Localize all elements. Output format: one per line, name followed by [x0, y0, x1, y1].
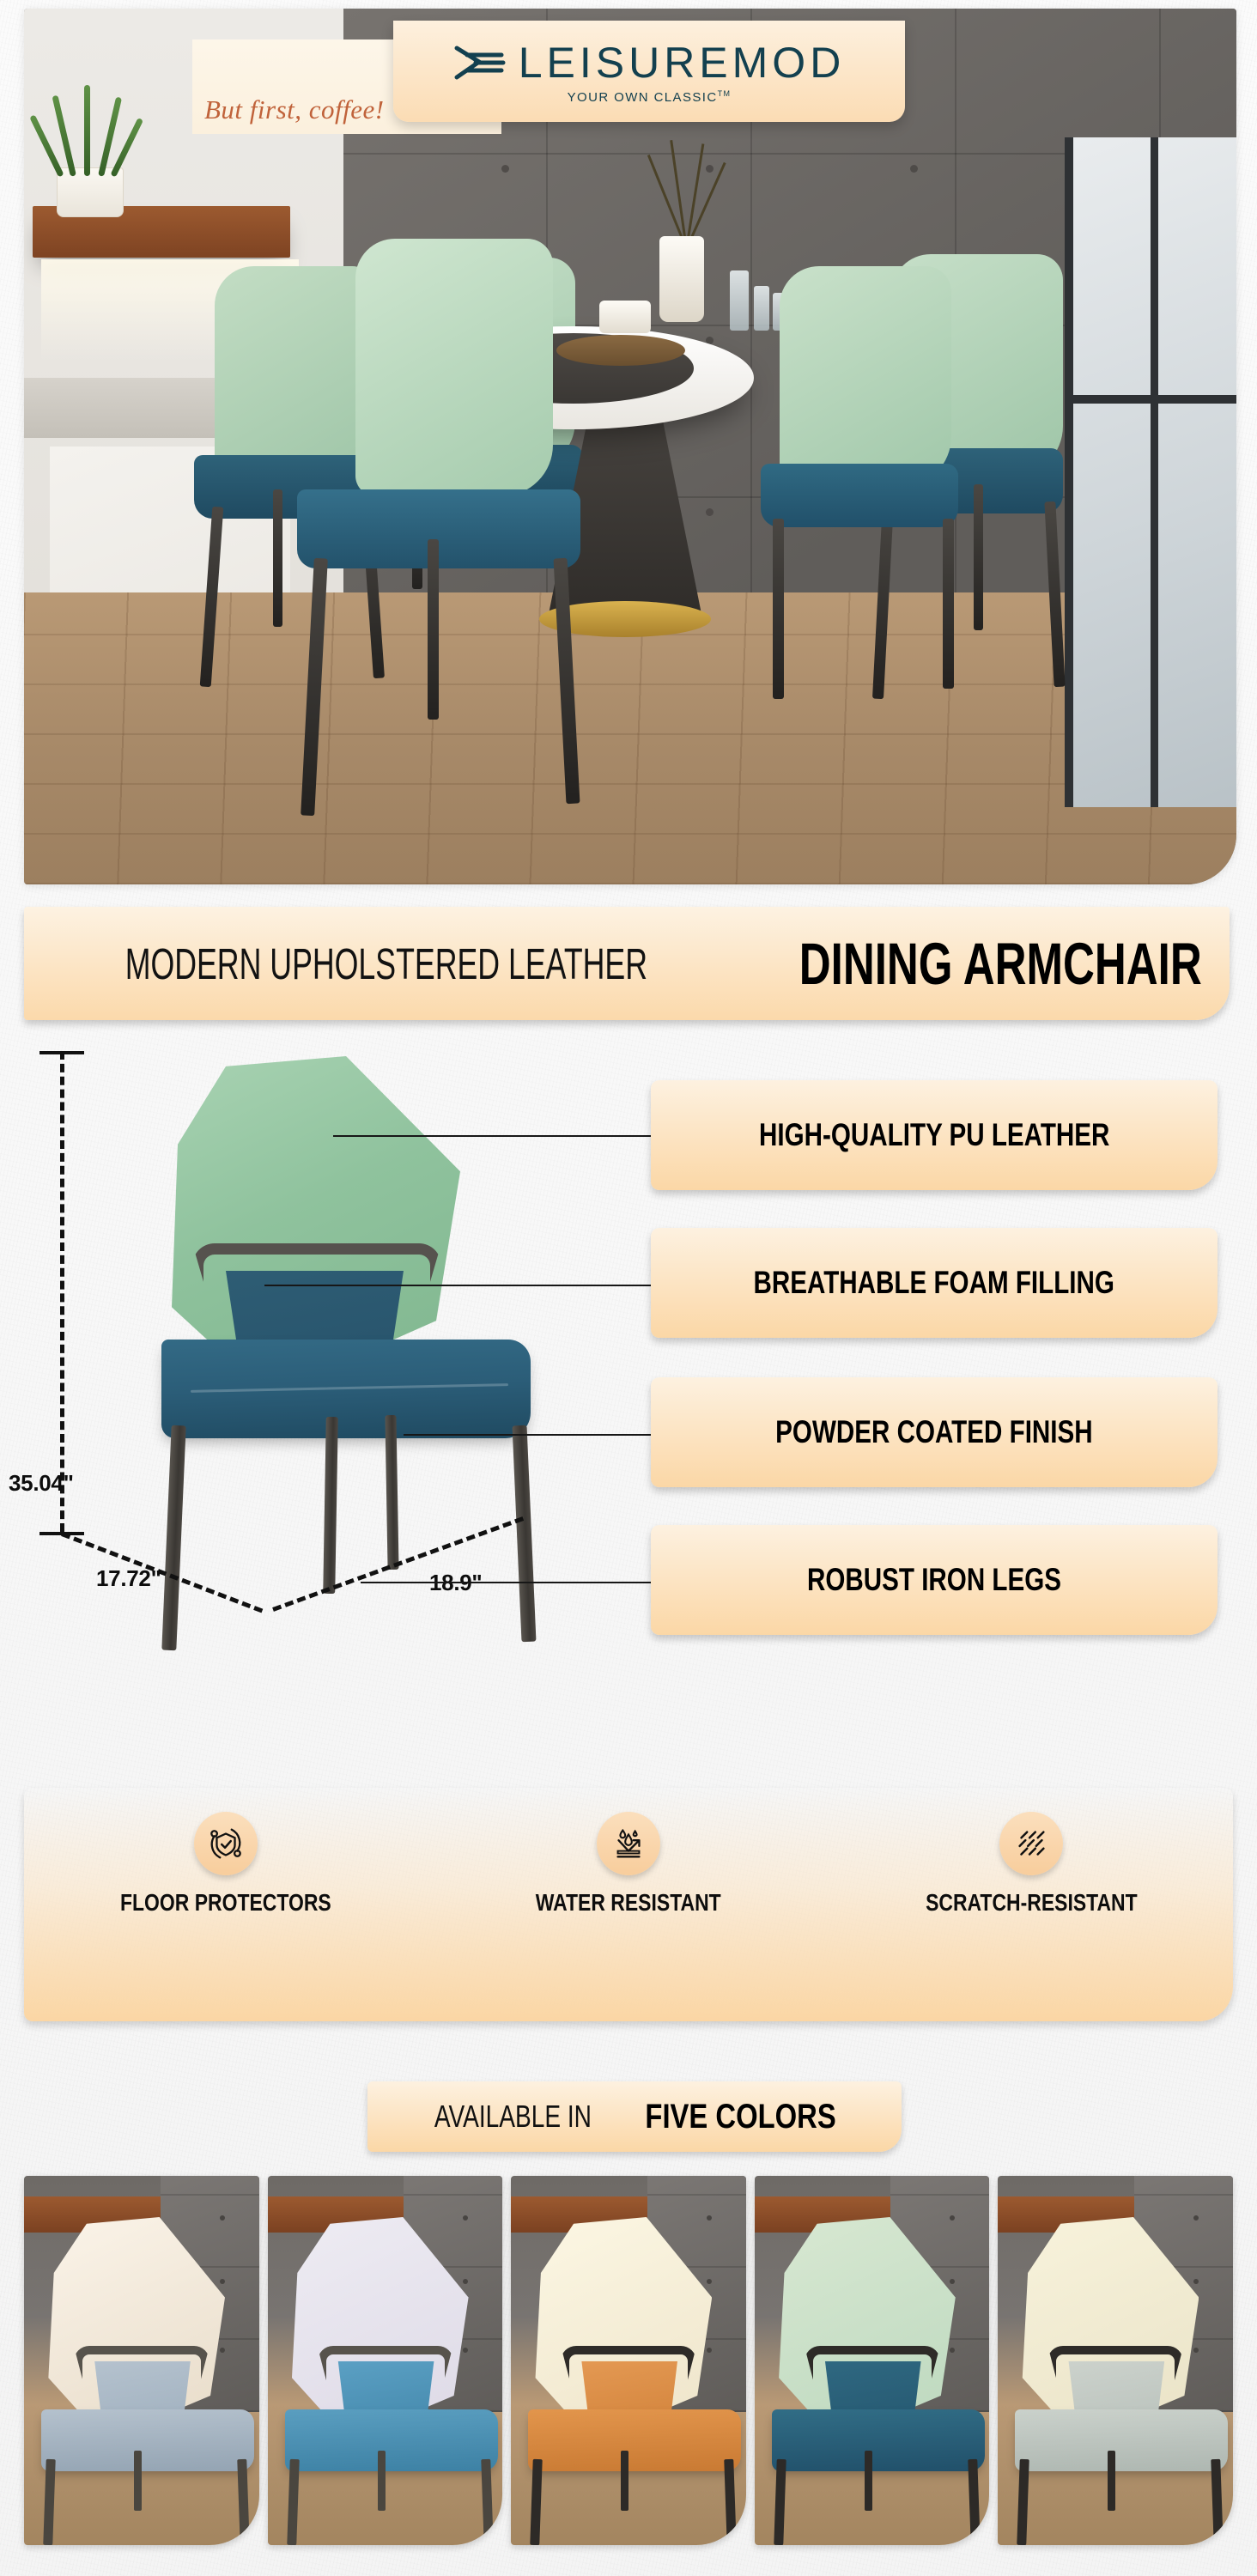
height-dimension-label: 35.04"	[9, 1470, 74, 1497]
swatch-wall-dot	[220, 2279, 225, 2284]
swatch-wall-dot	[707, 2215, 712, 2221]
swatch-leg	[134, 2451, 142, 2511]
swatch-wall-dot	[707, 2348, 712, 2353]
wall-art-text: But first, coffee!	[204, 94, 385, 125]
ribbed-white-vase	[659, 236, 704, 322]
hero-lifestyle-image: But first, coffee! LEISUREMOD YOUR OWN C…	[24, 9, 1236, 884]
swatch-seat	[1015, 2409, 1228, 2471]
color-swatch-cream-and-grey[interactable]	[24, 2176, 259, 2545]
benefit-water-resistant: WATER RESISTANT	[500, 1812, 757, 1917]
feature-pill-pu-leather: HIGH-QUALITY PU LEATHER	[651, 1080, 1218, 1190]
benefit-floor-protectors: FLOOR PROTECTORS	[97, 1812, 355, 1917]
color-swatch-ivory-and-grey[interactable]	[998, 2176, 1233, 2545]
brand-name: LEISUREMOD	[519, 38, 846, 88]
swatch-wall-dot	[1193, 2279, 1199, 2284]
benefits-bar: FLOOR PROTECTORS WATER RESISTANT	[24, 1788, 1233, 2021]
available-colors-banner: AVAILABLE IN FIVE COLORS	[367, 2081, 902, 2152]
feature-label: HIGH-QUALITY PU LEATHER	[759, 1117, 1109, 1153]
product-title-banner: MODERN UPHOLSTERED LEATHER DINING ARMCHA…	[24, 907, 1230, 1020]
swatch-wall-dot	[1193, 2348, 1199, 2353]
wall-bolt-dot	[910, 165, 918, 173]
benefit-label: WATER RESISTANT	[536, 1889, 721, 1917]
feature-label: BREATHABLE FOAM FILLING	[754, 1265, 1114, 1301]
swatch-wall-dot	[707, 2279, 712, 2284]
depth-dimension-label: 17.72"	[96, 1565, 161, 1592]
swatch-seat	[41, 2409, 254, 2471]
floor-protector-shield-icon	[194, 1812, 258, 1875]
swatch-leg	[378, 2451, 386, 2511]
swatch-wall-dot	[1193, 2215, 1199, 2221]
leader-line-foam-filling	[264, 1285, 653, 1286]
swatch-leg	[1108, 2451, 1115, 2511]
water-droplet-repellent-icon	[597, 1812, 660, 1875]
chair-leg-front-left	[161, 1425, 185, 1650]
title-light-text: MODERN UPHOLSTERED LEATHER	[125, 939, 647, 989]
swatch-leg	[621, 2451, 628, 2511]
leader-line-powder-coated	[404, 1434, 653, 1436]
scratch-lines-icon	[999, 1812, 1063, 1875]
chair-leg-front-right	[513, 1425, 537, 1643]
height-cap-top	[39, 1051, 84, 1054]
height-dimension-line	[60, 1051, 64, 1532]
chair-leg-rear-left	[323, 1417, 338, 1594]
wall-bolt-dot	[501, 165, 509, 173]
dried-branch-arrangement	[625, 137, 754, 249]
brand-logo-plate: LEISUREMOD YOUR OWN CLASSICTM	[393, 21, 905, 122]
color-swatch-strip	[24, 2176, 1233, 2545]
feature-pill-foam-filling: BREATHABLE FOAM FILLING	[651, 1228, 1218, 1338]
leader-line-iron-legs	[361, 1582, 653, 1583]
trademark-mark: TM	[718, 89, 732, 98]
wall-bolt-dot	[706, 508, 714, 516]
benefit-scratch-resistant: SCRATCH-RESISTANT	[902, 1812, 1160, 1917]
brand-tagline: YOUR OWN CLASSICTM	[568, 89, 732, 105]
benefit-label: FLOOR PROTECTORS	[120, 1889, 331, 1917]
swatch-leg	[865, 2451, 872, 2511]
benefit-label: SCRATCH-RESISTANT	[926, 1889, 1138, 1917]
ceramic-bowl	[599, 301, 651, 333]
swatch-wall-dot	[220, 2348, 225, 2353]
window-frame	[1065, 137, 1236, 807]
colors-banner-bold-text: FIVE COLORS	[645, 2098, 835, 2136]
snack-plate	[556, 335, 685, 366]
colors-banner-light-text: AVAILABLE IN	[434, 2099, 592, 2135]
color-swatch-white-and-blue[interactable]	[268, 2176, 503, 2545]
brand-tagline-text: YOUR OWN CLASSIC	[568, 90, 718, 105]
feature-label: POWDER COATED FINISH	[775, 1414, 1092, 1450]
feature-callout-section: 35.04" 17.72" 18.9" HIGH-QUALITY PU LEAT…	[0, 1030, 1257, 1777]
feature-pill-iron-legs: ROBUST IRON LEGS	[651, 1525, 1218, 1635]
color-swatch-green-and-teal[interactable]	[755, 2176, 990, 2545]
swatch-wall-dot	[220, 2215, 225, 2221]
rosemary-plant	[48, 82, 134, 176]
leader-line-pu-leather	[333, 1135, 653, 1137]
swatch-seat	[285, 2409, 498, 2471]
color-swatch-cream-and-orange[interactable]	[511, 2176, 746, 2545]
feature-label: ROBUST IRON LEGS	[807, 1562, 1061, 1598]
chair-seat-cushion	[161, 1340, 531, 1438]
feature-pill-powder-coated: POWDER COATED FINISH	[651, 1377, 1218, 1487]
swatch-seat	[528, 2409, 741, 2471]
swatch-seat	[772, 2409, 985, 2471]
leisuremod-chair-logo-icon	[453, 45, 507, 81]
title-bold-text: DINING ARMCHAIR	[799, 930, 1202, 998]
